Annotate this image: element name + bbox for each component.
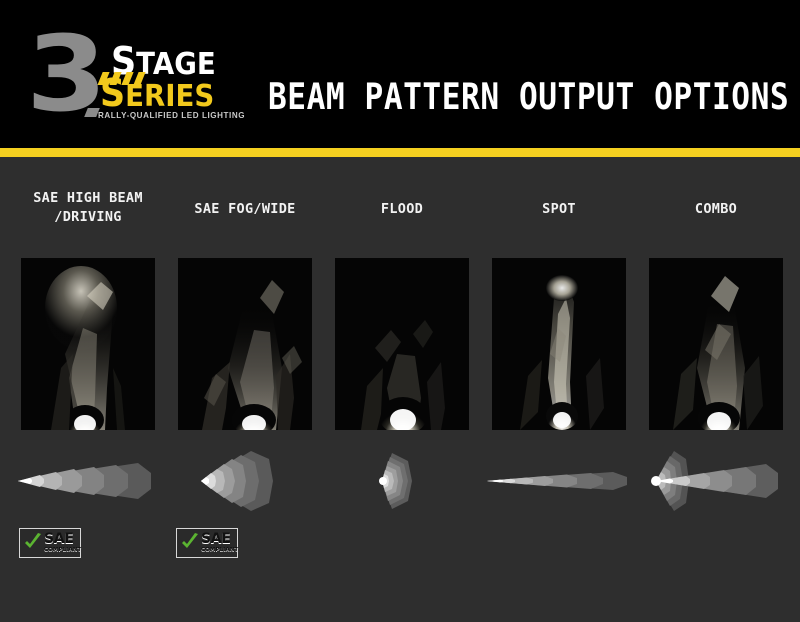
beam-diagram-spot [483, 445, 635, 517]
logo-series-cap: S [100, 71, 125, 115]
column-label: FLOOD [326, 200, 478, 219]
column-label-line1: FLOOD [326, 200, 478, 219]
yellow-divider [0, 148, 800, 157]
column-sae-high-beam-driving: SAE HIGH BEAM /DRIVING [12, 157, 164, 622]
flood-photo [335, 258, 469, 430]
column-label: SAE FOG/WIDE [169, 200, 321, 219]
column-label-line1: SAE HIGH BEAM [12, 189, 164, 208]
beam-pattern-infographic: 3 STAGE SERIES RALLY-QUALIFIED LED LIGHT… [0, 0, 800, 622]
column-combo: COMBO [640, 157, 792, 622]
column-label-line1: SAE FOG/WIDE [169, 200, 321, 219]
combo-photo [649, 258, 783, 430]
column-label: SPOT [483, 200, 635, 219]
page-title: BEAM PATTERN OUTPUT OPTIONS [268, 76, 789, 119]
stage-series-logo: 3 STAGE SERIES RALLY-QUALIFIED LED LIGHT… [26, 28, 246, 132]
column-sae-fog-wide: SAE FOG/WIDE [169, 157, 321, 622]
header-bar: 3 STAGE SERIES RALLY-QUALIFIED LED LIGHT… [0, 0, 800, 148]
beam-diagram-combo [640, 445, 792, 517]
sae-badge-inner: SAE COMPLIANT [20, 529, 80, 557]
spot-photo [492, 258, 626, 430]
column-label-line1: SPOT [483, 200, 635, 219]
sae-compliant-badge: SAE COMPLIANT [176, 528, 238, 558]
sae-badge-sub: COMPLIANT [201, 546, 237, 554]
column-flood: FLOOD [326, 157, 478, 622]
column-label-line2: /DRIVING [12, 208, 164, 227]
logo-series-rest: ERIES [125, 79, 214, 114]
green-check-icon [180, 533, 200, 553]
sae-badge-text: SAE COMPLIANT [201, 532, 237, 554]
column-label: COMBO [640, 200, 792, 219]
column-label: SAE HIGH BEAM /DRIVING [12, 189, 164, 227]
sae-badge-main: SAE [201, 532, 237, 546]
beam-diagram-driving [12, 445, 164, 517]
column-label-line1: COMBO [640, 200, 792, 219]
column-spot: SPOT [483, 157, 635, 622]
sae-badge-main: SAE [44, 532, 80, 546]
logo-word-series: SERIES [100, 78, 214, 112]
green-check-icon [23, 533, 43, 553]
sae-high-beam-driving-photo [21, 258, 155, 430]
beam-diagram-flood [326, 445, 478, 517]
sae-badge-text: SAE COMPLIANT [44, 532, 80, 554]
sae-fog-wide-photo [178, 258, 312, 430]
beam-diagram-fog-wide [169, 445, 321, 517]
columns-container: SAE HIGH BEAM /DRIVING [0, 157, 800, 622]
sae-badge-inner: SAE COMPLIANT [177, 529, 237, 557]
sae-compliant-badge: SAE COMPLIANT [19, 528, 81, 558]
sae-badge-sub: COMPLIANT [44, 546, 80, 554]
logo-tagline: RALLY-QUALIFIED LED LIGHTING [98, 110, 245, 120]
